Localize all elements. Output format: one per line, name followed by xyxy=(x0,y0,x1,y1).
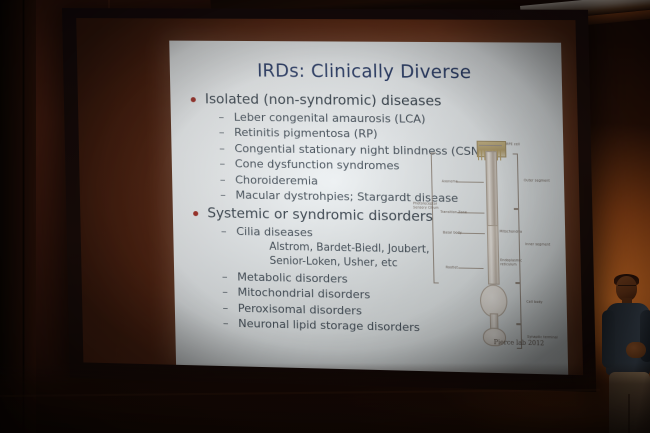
dash-icon: – xyxy=(218,109,224,125)
slide-content: IRDs: Clinically Diverse Isolated (non-s… xyxy=(169,41,568,375)
right-brace-cell-body xyxy=(515,283,521,324)
diagram-label-synaptic-terminal: Synaptic terminal xyxy=(527,335,558,340)
foreground-shadow xyxy=(0,363,650,433)
dash-icon: – xyxy=(222,269,228,285)
diagram-label-rpe-cell: RPE cell xyxy=(506,142,520,146)
diagram-label-transition-zone: Transition Zone xyxy=(440,210,467,215)
diagram-label-axoneme: Axoneme xyxy=(442,179,458,183)
glasses-icon xyxy=(618,285,636,290)
projection-screen-surface: IRDs: Clinically Diverse Isolated (non-s… xyxy=(76,18,583,375)
bullet-level2-label: Metabolic disorders xyxy=(237,270,348,285)
dash-icon: – xyxy=(219,125,225,141)
right-brace-outer-segment xyxy=(513,153,519,209)
dash-icon: – xyxy=(220,172,226,188)
presenter-hands xyxy=(626,342,646,358)
bullet-level2-label: Cone dysfunction syndromes xyxy=(235,157,400,172)
bullet-level3-label: Senior-Loken, Usher, etc xyxy=(269,256,397,270)
bullet-level1: Isolated (non-syndromic) diseases xyxy=(184,91,554,112)
diagram-label-outer-segment: Outer segment xyxy=(524,178,550,182)
diagram-label-basal-body: Basal body xyxy=(443,230,462,234)
leader-line xyxy=(456,181,483,182)
bullet-level2-label: Cilia diseases xyxy=(236,225,313,239)
diagram-label-cell-body: Cell body xyxy=(526,300,542,304)
right-brace-inner-segment xyxy=(514,209,521,283)
slide-title: IRDs: Clinically Diverse xyxy=(170,61,562,84)
diagram-label-endoplasmic-reticulum: Endoplasmic reticulum xyxy=(500,258,526,267)
bullet-level2-label: Choroideremia xyxy=(235,173,318,187)
presenter-arm-left xyxy=(602,310,615,368)
dash-icon: – xyxy=(220,187,226,203)
photoreceptor-diagram: RPE cell Photoreceptor Sensory Cilium Ax… xyxy=(424,138,563,358)
dash-icon: – xyxy=(219,156,225,172)
diagram-label-inner-segment: Inner segment xyxy=(525,242,550,247)
dash-icon: – xyxy=(221,224,227,240)
bullet-level3-label: Alstrom, Bardet-Biedl, Joubert, xyxy=(269,241,429,255)
bullet-level2-label: Peroxisomal disorders xyxy=(238,301,362,317)
room-scene: IRDs: Clinically Diverse Isolated (non-s… xyxy=(0,0,650,433)
diagram-credit: Pierce lab 2012 xyxy=(494,339,545,347)
projected-slide: IRDs: Clinically Diverse Isolated (non-s… xyxy=(169,41,568,375)
bullet-dot-icon xyxy=(191,97,196,102)
dash-icon: – xyxy=(223,316,229,332)
dash-icon: – xyxy=(222,300,228,316)
projection-screen-frame: IRDs: Clinically Diverse Isolated (non-s… xyxy=(62,8,596,392)
dash-icon: – xyxy=(222,284,228,300)
diagram-label-photoreceptor-sensory-cilium: Photoreceptor Sensory Cilium xyxy=(413,201,440,210)
bullet-level2-label: Mitochondrial disorders xyxy=(237,286,370,302)
bullet-level1-label: Systemic or syndromic disorders xyxy=(207,207,433,226)
diagram-label-rootlet: Rootlet xyxy=(446,265,458,269)
diagram-label-mitochondria: Mitochondria xyxy=(500,229,523,233)
bullet-level2-label: Retinitis pigmentosa (RP) xyxy=(234,126,378,141)
bullet-level2-label: Leber congenital amaurosis (LCA) xyxy=(234,111,426,126)
bullet-dot-icon xyxy=(193,211,198,216)
outer-brace xyxy=(431,152,439,283)
bullet-level2-label: Neuronal lipid storage disorders xyxy=(238,317,420,334)
outer-segment-shape xyxy=(485,151,498,227)
inner-segment-shape xyxy=(487,225,500,285)
dash-icon: – xyxy=(219,141,225,157)
bullet-level1-label: Isolated (non-syndromic) diseases xyxy=(205,92,442,109)
leader-line xyxy=(458,268,483,269)
